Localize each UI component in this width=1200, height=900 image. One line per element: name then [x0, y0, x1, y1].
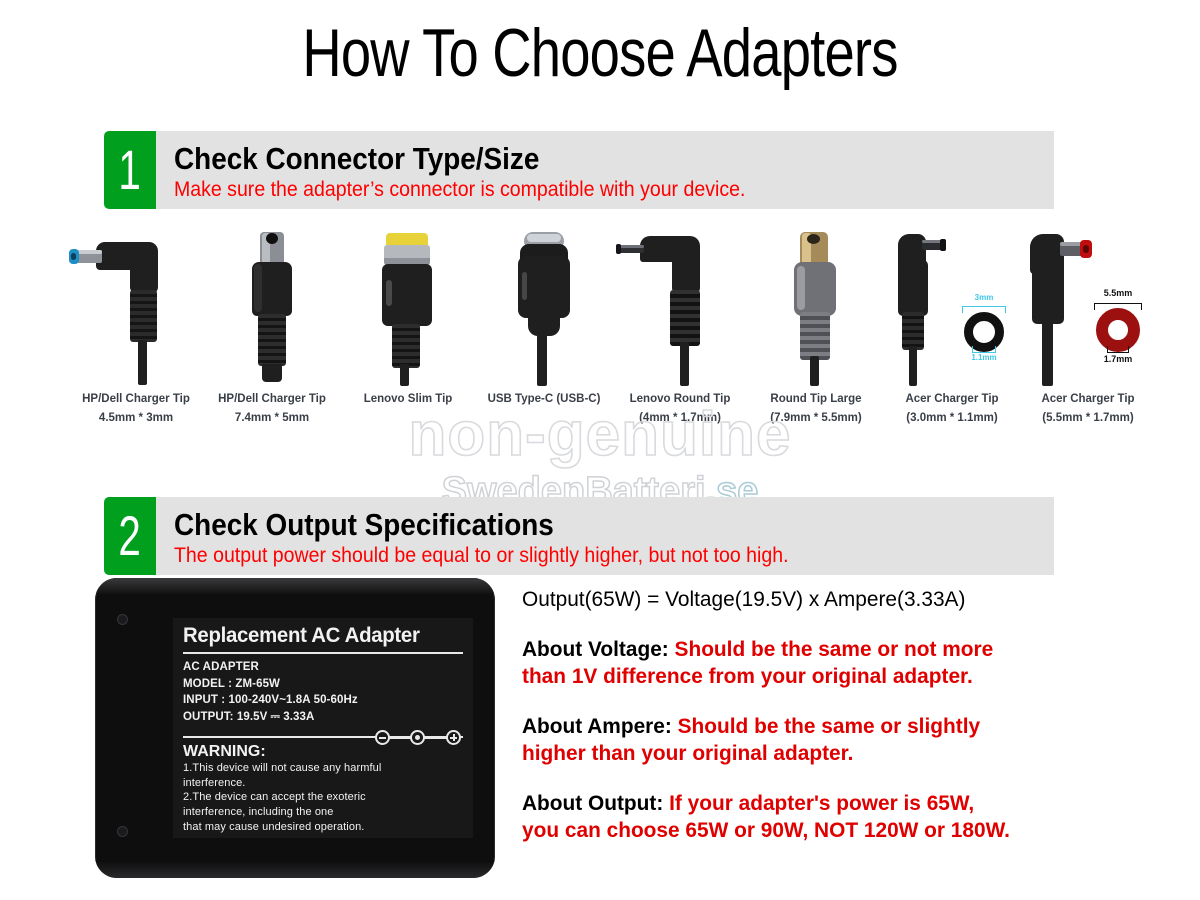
adapter-warning-list: 1.This device will not cause any harmful…	[183, 761, 463, 835]
connector-name-3: Lenovo Slim Tip	[332, 390, 484, 409]
connector-size-7: (3.0mm * 1.1mm)	[876, 409, 1028, 428]
step-1-title: Check Connector Type/Size	[174, 143, 966, 175]
step-1-header-body: Check Connector Type/Size Make sure the …	[156, 131, 1054, 209]
adapter-spec-block: AC ADAPTER MODEL : ZM-65W INPUT : 100-24…	[183, 659, 463, 726]
adapter-label-panel: Replacement AC Adapter AC ADAPTER MODEL …	[173, 618, 473, 838]
about-voltage-block: About Voltage: Should be the same or not…	[522, 636, 1104, 691]
adapter-spec-line-4: OUTPUT: 19.5V ⎓ 3.33A	[183, 709, 463, 726]
adapter-spec-line-2: MODEL : ZM-65W	[183, 676, 463, 693]
about-output-block: About Output: If your adapter's power is…	[522, 790, 1104, 845]
adapter-spec-line-1: AC ADAPTER	[183, 659, 463, 676]
adapter-screw-bottom	[117, 826, 128, 837]
adapter-warning-line-5: that may cause undesired operation.	[183, 820, 463, 835]
adapter-warning-line-3: 2.The device can accept the exoteric	[183, 790, 463, 805]
connector-item-3[interactable]: Lenovo Slim Tip	[340, 228, 476, 443]
connector-name-8: Acer Charger Tip	[1012, 390, 1164, 409]
acer-small-ring-outer-label: 3mm	[958, 293, 1010, 302]
connector-size-5: (4mm * 1.7mm)	[604, 409, 756, 428]
about-ampere-value-2: higher than your original adapter.	[522, 741, 853, 765]
connector-size-2: 7.4mm * 5mm	[196, 409, 348, 428]
connector-caption-7: Acer Charger Tip (3.0mm * 1.1mm)	[876, 390, 1028, 428]
hp-dell-straight-barrel-connector-icon	[204, 228, 340, 383]
adapter-rule-top	[183, 652, 463, 654]
adapter-warning-line-1: 1.This device will not cause any harmful	[183, 761, 463, 776]
about-output-value-2: you can choose 65W or 90W, NOT 120W or 1…	[522, 818, 1010, 842]
usb-type-c-connector-icon	[476, 228, 612, 383]
step-1-number: 1	[119, 142, 141, 198]
acer-small-ring-diagram: 3mm 1.1mm	[958, 290, 1016, 362]
adapter-screw-top	[117, 614, 128, 625]
connector-caption-3: Lenovo Slim Tip	[332, 390, 484, 409]
step-2-number-badge: 2	[104, 497, 156, 575]
connector-size-1: 4.5mm * 3mm	[60, 409, 212, 428]
step-1-header: 1 Check Connector Type/Size Make sure th…	[104, 131, 1054, 209]
adapter-brand-line: Replacement AC Adapter	[183, 624, 455, 648]
adapter-spec-line-3: INPUT : 100-240V~1.8A 50-60Hz	[183, 692, 463, 709]
connector-caption-6: Round Tip Large (7.9mm * 5.5mm)	[740, 390, 892, 428]
about-ampere-block: About Ampere: Should be the same or slig…	[522, 713, 1104, 768]
lenovo-round-tip-right-angle-connector-icon	[612, 228, 748, 383]
connector-name-2: HP/Dell Charger Tip	[196, 390, 348, 409]
step-2-header-body: Check Output Specifications The output p…	[156, 497, 1054, 575]
connector-name-6: Round Tip Large	[740, 390, 892, 409]
about-output-value-1: If your adapter's power is 65W,	[669, 791, 974, 815]
step-1-number-badge: 1	[104, 131, 156, 209]
connector-item-5[interactable]: Lenovo Round Tip (4mm * 1.7mm)	[612, 228, 748, 443]
connector-item-1[interactable]: HP/Dell Charger Tip 4.5mm * 3mm	[68, 228, 204, 443]
acer-large-ring-outer-label: 5.5mm	[1086, 288, 1150, 298]
connector-name-1: HP/Dell Charger Tip	[60, 390, 212, 409]
ac-adapter-photo: Replacement AC Adapter AC ADAPTER MODEL …	[95, 578, 495, 878]
about-ampere-label: About Ampere:	[522, 714, 678, 738]
connector-name-7: Acer Charger Tip	[876, 390, 1028, 409]
connector-item-8[interactable]: 5.5mm 1.7mm Acer Charger Tip (5.5mm * 1.…	[1020, 228, 1156, 443]
connector-item-2[interactable]: HP/Dell Charger Tip 7.4mm * 5mm	[204, 228, 340, 443]
step-2-header: 2 Check Output Specifications The output…	[104, 497, 1054, 575]
lenovo-slim-tip-yellow-connector-icon	[340, 228, 476, 383]
output-formula: Output(65W) = Voltage(19.5V) x Ampere(3.…	[522, 586, 1104, 614]
about-voltage-value-2: than 1V difference from your original ad…	[522, 664, 973, 688]
connector-item-4[interactable]: USB Type-C (USB-C)	[476, 228, 612, 443]
step-1-subtitle: Make sure the adapter’s connector is com…	[174, 178, 992, 202]
connector-caption-1: HP/Dell Charger Tip 4.5mm * 3mm	[60, 390, 212, 428]
connector-caption-2: HP/Dell Charger Tip 7.4mm * 5mm	[196, 390, 348, 428]
center-positive-polarity-icon	[375, 730, 461, 746]
infographic-page: How To Choose Adapters 1 Check Connector…	[0, 0, 1200, 900]
connector-caption-8: Acer Charger Tip (5.5mm * 1.7mm)	[1012, 390, 1164, 428]
output-specifications-text: Output(65W) = Voltage(19.5V) x Ampere(3.…	[522, 586, 1122, 867]
connector-name-4: USB Type-C (USB-C)	[468, 390, 620, 409]
step-2-title: Check Output Specifications	[174, 509, 966, 541]
about-output-label: About Output:	[522, 791, 669, 815]
adapter-warning-line-2: interference.	[183, 776, 463, 791]
step-2-subtitle: The output power should be equal to or s…	[174, 544, 992, 568]
acer-charger-tip-large-connector-icon: 5.5mm 1.7mm	[1020, 228, 1156, 383]
connector-item-6[interactable]: Round Tip Large (7.9mm * 5.5mm)	[748, 228, 884, 443]
about-voltage-value-1: Should be the same or not more	[675, 637, 994, 661]
acer-large-ring-inner-label: 1.7mm	[1086, 354, 1150, 364]
connector-caption-5: Lenovo Round Tip (4mm * 1.7mm)	[604, 390, 756, 428]
acer-charger-tip-small-connector-icon: 3mm 1.1mm	[884, 228, 1020, 383]
connector-size-6: (7.9mm * 5.5mm)	[740, 409, 892, 428]
hp-dell-right-angle-blue-tip-connector-icon	[68, 228, 204, 383]
connector-name-5: Lenovo Round Tip	[604, 390, 756, 409]
about-ampere-value-1: Should be the same or slightly	[678, 714, 980, 738]
acer-large-ring-diagram: 5.5mm 1.7mm	[1086, 286, 1150, 366]
connector-caption-4: USB Type-C (USB-C)	[468, 390, 620, 409]
round-tip-large-grey-connector-icon	[748, 228, 884, 383]
adapter-warning-line-4: interference, including the one	[183, 805, 463, 820]
step-2-number: 2	[119, 508, 141, 564]
acer-small-ring-inner-label: 1.1mm	[958, 353, 1010, 362]
about-voltage-label: About Voltage:	[522, 637, 675, 661]
connector-item-7[interactable]: 3mm 1.1mm Acer Charger Tip (3.0mm * 1.1m…	[884, 228, 1020, 443]
connector-size-8: (5.5mm * 1.7mm)	[1012, 409, 1164, 428]
page-title: How To Choose Adapters	[120, 14, 1080, 92]
connector-gallery: HP/Dell Charger Tip 4.5mm * 3mm	[60, 228, 1150, 443]
